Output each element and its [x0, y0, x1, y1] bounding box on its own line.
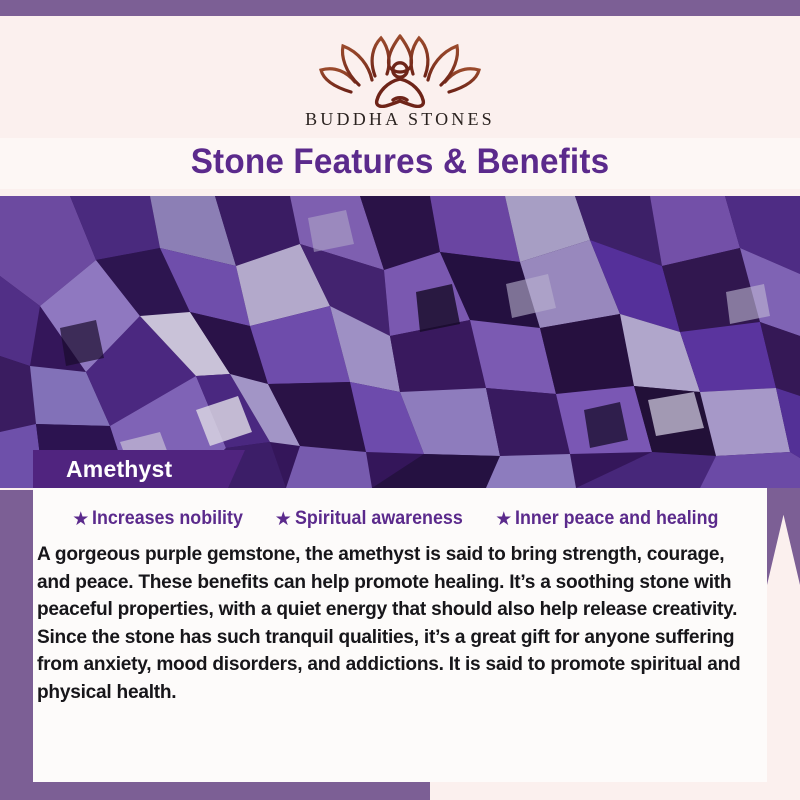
benefit-label: Increases nobility — [92, 508, 243, 530]
star-icon: ★ — [72, 510, 89, 529]
benefit-item: ★ Spiritual awareness — [275, 508, 474, 530]
stone-name-banner: Amethyst — [33, 450, 245, 488]
benefit-item: ★ Inner peace and healing — [495, 508, 732, 530]
infographic-page: BUDDHA STONES Stone Features & Benefits — [0, 0, 800, 800]
benefit-item: ★ Increases nobility — [72, 508, 253, 530]
brand-name: BUDDHA STONES — [0, 109, 800, 130]
page-title: Stone Features & Benefits — [20, 142, 780, 182]
benefit-label: Inner peace and healing — [515, 508, 718, 530]
title-band: Stone Features & Benefits — [0, 138, 800, 189]
star-icon: ★ — [275, 510, 292, 529]
stone-photo — [0, 196, 800, 488]
stone-name: Amethyst — [33, 456, 172, 483]
brand-logo: BUDDHA STONES — [0, 16, 800, 130]
amethyst-crystal-cluster-image — [0, 196, 800, 488]
header: BUDDHA STONES Stone Features & Benefits — [0, 16, 800, 196]
benefit-label: Spiritual awareness — [295, 508, 463, 530]
star-icon: ★ — [495, 510, 512, 529]
frame-bottom-bar — [0, 782, 430, 800]
frame-top-bar — [0, 0, 800, 16]
content-panel: ★ Increases nobility ★ Spiritual awarene… — [33, 488, 767, 782]
lotus-meditation-icon — [315, 30, 485, 108]
benefits-list: ★ Increases nobility ★ Spiritual awarene… — [33, 488, 767, 530]
stone-description: A gorgeous purple gemstone, the amethyst… — [37, 541, 744, 706]
frame-left-bar — [0, 490, 33, 800]
